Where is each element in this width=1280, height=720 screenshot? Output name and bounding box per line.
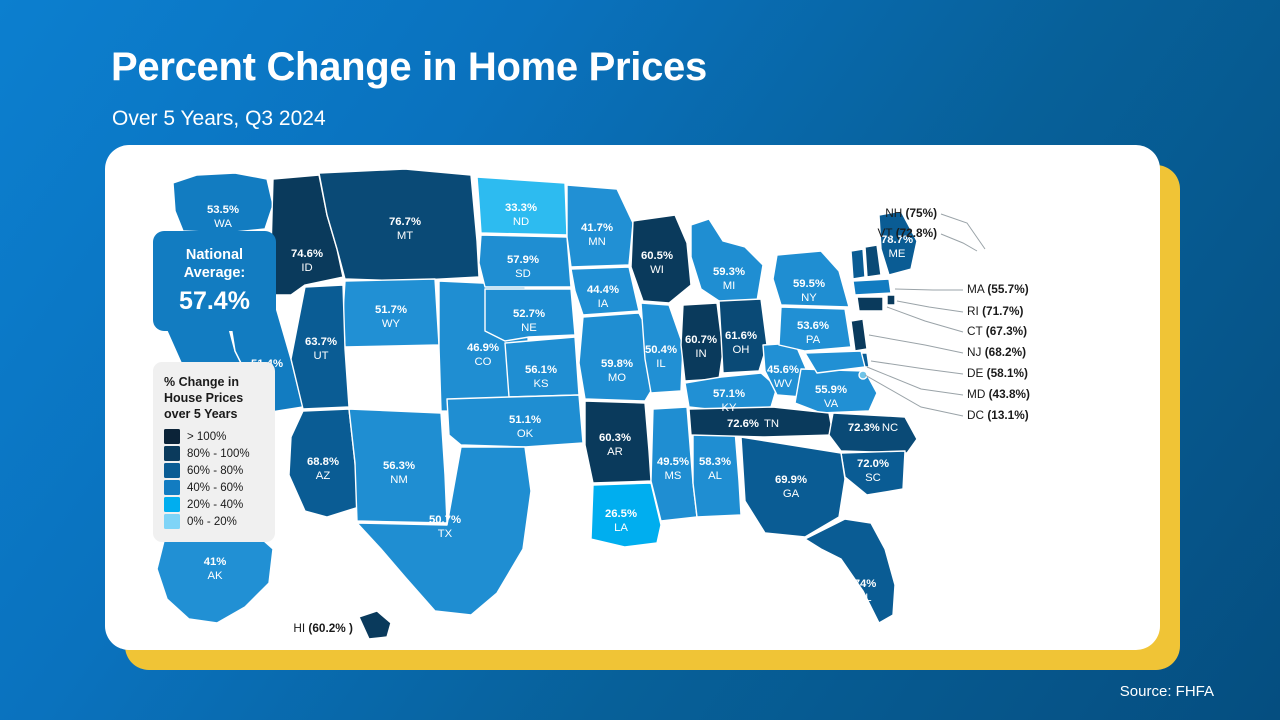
state-shape-fl[interactable] (805, 519, 895, 623)
legend-item-label: 0% - 20% (187, 516, 237, 528)
legend-item-2: 60% - 80% (164, 463, 265, 478)
legend-title-line2: House Prices (164, 391, 243, 405)
legend-item-5: 0% - 20% (164, 514, 265, 529)
state-shape-ma[interactable] (853, 279, 891, 295)
leader-line-dc (865, 375, 963, 416)
leader-line-md (867, 367, 963, 395)
state-label-tn: 72.6%TN (727, 418, 779, 430)
state-shape-nj[interactable] (851, 319, 867, 351)
legend-item-label: 20% - 40% (187, 499, 243, 511)
page-title: Percent Change in Home Prices (111, 45, 707, 90)
callout-label-dc: DC (13.1%) (967, 408, 1029, 422)
state-shape-ga[interactable] (741, 437, 845, 537)
leader-line-ri (897, 301, 963, 312)
legend-swatch-icon (164, 429, 180, 444)
callout-label-ct: CT (67.3%) (967, 324, 1027, 338)
callout-label-ma: MA (55.7%) (967, 282, 1029, 296)
leader-line-de (871, 361, 963, 374)
callout-label-hi: HI (60.2% ) (293, 621, 353, 635)
source-credit: Source: FHFA (1120, 683, 1214, 700)
legend-items: > 100%80% - 100%60% - 80%40% - 60%20% - … (164, 429, 265, 529)
leader-line-vt (941, 234, 977, 251)
legend-title-line1: % Change in (164, 375, 239, 389)
state-label-nc: 72.3%NC (848, 422, 898, 434)
leader-line-nj (869, 335, 963, 353)
legend-swatch-icon (164, 463, 180, 478)
national-average-label-line1: National (186, 247, 243, 263)
map-legend: % Change in House Prices over 5 Years > … (153, 362, 275, 542)
legend-item-label: 40% - 60% (187, 482, 243, 494)
leader-line-nh (941, 214, 985, 249)
legend-swatch-icon (164, 497, 180, 512)
legend-item-1: 80% - 100% (164, 446, 265, 461)
state-shape-vt[interactable] (851, 249, 865, 279)
legend-item-4: 20% - 40% (164, 497, 265, 512)
legend-swatch-icon (164, 480, 180, 495)
national-average-value: 57.4% (179, 287, 250, 316)
callout-label-de: DE (58.1%) (967, 366, 1028, 380)
legend-title: % Change in House Prices over 5 Years (164, 374, 265, 422)
legend-title-line3: over 5 Years (164, 407, 237, 421)
national-average-box: National Average: 57.4% (153, 231, 276, 331)
legend-item-label: 80% - 100% (187, 448, 250, 460)
legend-swatch-icon (164, 514, 180, 529)
legend-item-3: 40% - 60% (164, 480, 265, 495)
national-average-label: National Average: (184, 246, 246, 282)
callout-label-nh: NH (75%) (885, 206, 937, 220)
callout-label-md: MD (43.8%) (967, 387, 1030, 401)
state-shape-tn[interactable] (689, 407, 833, 437)
callout-label-nj: NJ (68.2%) (967, 345, 1026, 359)
state-shape-ri[interactable] (887, 295, 895, 305)
page-subtitle: Over 5 Years, Q3 2024 (112, 107, 326, 131)
state-shape-nh[interactable] (865, 245, 881, 277)
legend-item-label: 60% - 80% (187, 465, 243, 477)
state-shape-mi[interactable] (691, 219, 763, 305)
legend-swatch-icon (164, 446, 180, 461)
national-average-label-line2: Average: (184, 265, 246, 281)
state-shape-ct[interactable] (857, 297, 883, 311)
legend-item-label: > 100% (187, 431, 226, 443)
legend-item-0: > 100% (164, 429, 265, 444)
callout-label-ri: RI (71.7%) (967, 304, 1023, 318)
leader-line-ma (895, 289, 963, 290)
callout-label-vt: VT (72.8%) (878, 226, 938, 240)
state-shape-hi[interactable] (359, 611, 391, 639)
